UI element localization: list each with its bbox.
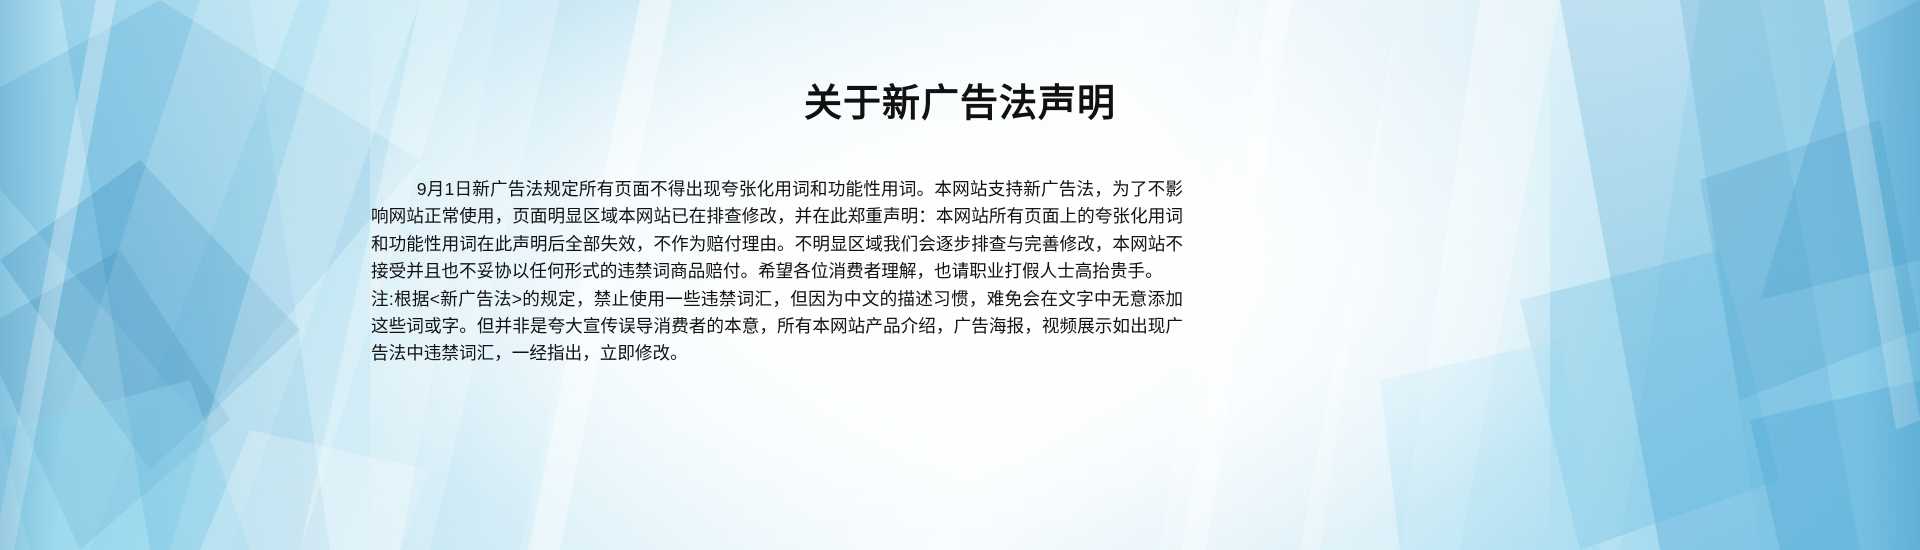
statement-paragraph-2: 注:根据<新广告法>的规定，禁止使用一些违禁词汇，但因为中文的描述习惯，难免会在…: [371, 286, 1183, 368]
statement-paragraph-1: 9月1日新广告法规定所有页面不得出现夸张化用词和功能性用词。本网站支持新广告法，…: [371, 176, 1183, 286]
advertising-law-statement-banner: 关于新广告法声明 9月1日新广告法规定所有页面不得出现夸张化用词和功能性用词。本…: [0, 0, 1920, 550]
page-title: 关于新广告法声明: [0, 82, 1920, 128]
statement-content: 关于新广告法声明 9月1日新广告法规定所有页面不得出现夸张化用词和功能性用词。本…: [0, 0, 1920, 550]
statement-body: 9月1日新广告法规定所有页面不得出现夸张化用词和功能性用词。本网站支持新广告法，…: [371, 176, 1183, 368]
